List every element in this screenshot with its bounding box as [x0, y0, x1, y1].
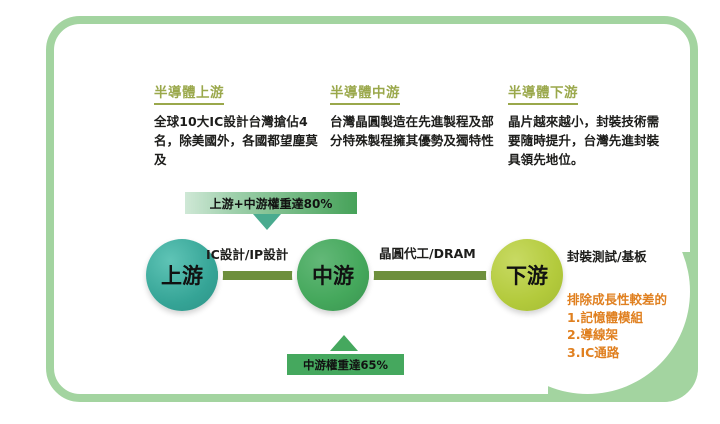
column-upstream: 半導體上游 全球10大IC設計台灣搶佔4名，除美國外，各國都望塵莫及: [154, 82, 320, 169]
exclusions-item-3: 3.IC通路: [567, 344, 667, 362]
column-downstream-body: 晶片越來越小，封裝技術需要隨時提升，台灣先進封裝具領先地位。: [508, 112, 668, 169]
link-label-foundry-dram: 晶圓代工/DRAM: [379, 243, 476, 262]
diagram-canvas: 半導體上游 全球10大IC設計台灣搶佔4名，除美國外，各國都望塵莫及 半導體中游…: [54, 24, 690, 394]
column-upstream-body: 全球10大IC設計台灣搶佔4名，除美國外，各國都望塵莫及: [154, 112, 320, 169]
exclusions-item-2: 2.導線架: [567, 326, 667, 344]
exclusions-title: 排除成長性較差的: [567, 291, 667, 309]
exclusions-list: 排除成長性較差的 1.記憶體模組 2.導線架 3.IC通路: [567, 291, 667, 361]
column-downstream: 半導體下游 晶片越來越小，封裝技術需要隨時提升，台灣先進封裝具領先地位。: [508, 82, 668, 169]
callout-lower-arrow-up-icon: [330, 335, 358, 351]
diagram-frame: 半導體上游 全球10大IC設計台灣搶佔4名，除美國外，各國都望塵莫及 半導體中游…: [46, 16, 698, 402]
node-midstream[interactable]: 中游: [297, 239, 369, 311]
node-downstream[interactable]: 下游: [491, 239, 563, 311]
column-downstream-heading: 半導體下游: [508, 84, 578, 105]
callout-midstream-weight: 中游權重達65%: [287, 354, 404, 375]
link-label-packaging-test: 封裝測試/基板: [567, 246, 647, 265]
callout-upstream-midstream-weight: 上游+中游權重達80%: [185, 192, 357, 214]
column-upstream-heading: 半導體上游: [154, 84, 224, 105]
callout-upper-arrow-down-icon: [253, 214, 281, 230]
column-midstream: 半導體中游 台灣晶圓製造在先進製程及部分特殊製程擁其優勢及獨特性: [330, 82, 500, 150]
link-label-ic-design: IC設計/IP設計: [206, 244, 288, 263]
column-midstream-body: 台灣晶圓製造在先進製程及部分特殊製程擁其優勢及獨特性: [330, 112, 500, 150]
column-midstream-heading: 半導體中游: [330, 84, 400, 105]
exclusions-item-1: 1.記憶體模組: [567, 309, 667, 327]
